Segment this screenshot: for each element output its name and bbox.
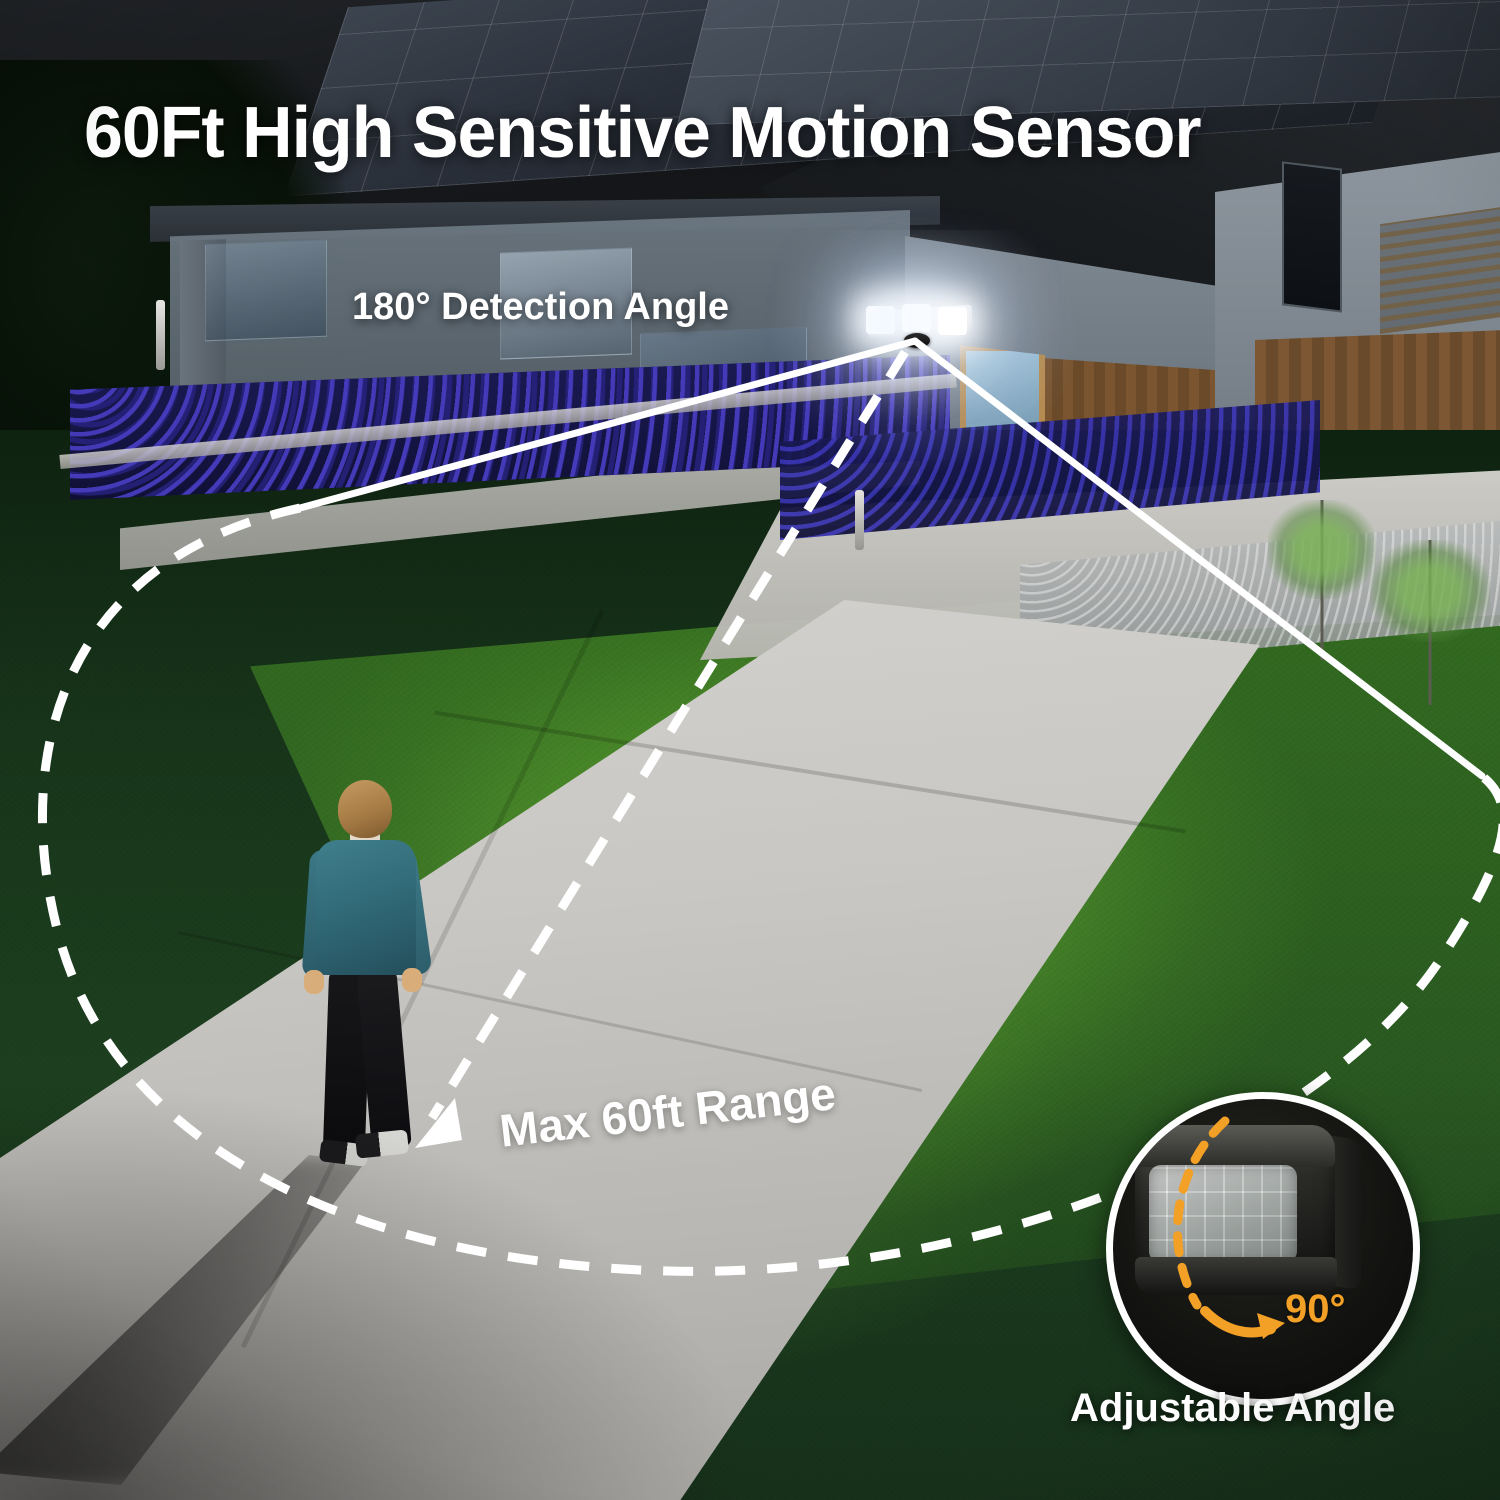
- pir-sensor-dome: [904, 333, 930, 348]
- product-marketing-image: 60Ft High Sensitive Motion Sensor 180° D…: [0, 0, 1500, 1500]
- adjustable-angle-label: Adjustable Angle: [1070, 1386, 1395, 1431]
- led-head-3: [938, 307, 967, 335]
- led-head-1: [866, 306, 895, 334]
- path-bollard-light: [156, 300, 165, 370]
- sapling-tree-2: [1370, 540, 1490, 705]
- person-hand-right: [402, 968, 422, 992]
- person-head: [338, 780, 392, 838]
- page-title: 60Ft High Sensitive Motion Sensor: [84, 92, 1201, 174]
- detection-angle-label: 180° Detection Angle: [352, 286, 729, 329]
- house-window-a: [205, 240, 327, 342]
- adjustable-angle-inset: 90°: [1106, 1092, 1420, 1406]
- rotation-arc-dashed: [1177, 1121, 1225, 1305]
- upper-window: [1282, 161, 1342, 312]
- driveway-shadow-corner: [0, 1080, 760, 1500]
- balcony-railing: [1380, 206, 1500, 334]
- led-head-2: [902, 304, 931, 332]
- person-sweater: [316, 840, 416, 975]
- rotation-arc-overlay: [1113, 1099, 1413, 1399]
- led-security-light-fixture: [862, 300, 977, 360]
- person-hand-left: [304, 970, 324, 994]
- rotation-degrees-label: 90°: [1285, 1287, 1346, 1332]
- path-bollard-light-2: [855, 490, 864, 550]
- sapling-tree-1: [1268, 500, 1376, 660]
